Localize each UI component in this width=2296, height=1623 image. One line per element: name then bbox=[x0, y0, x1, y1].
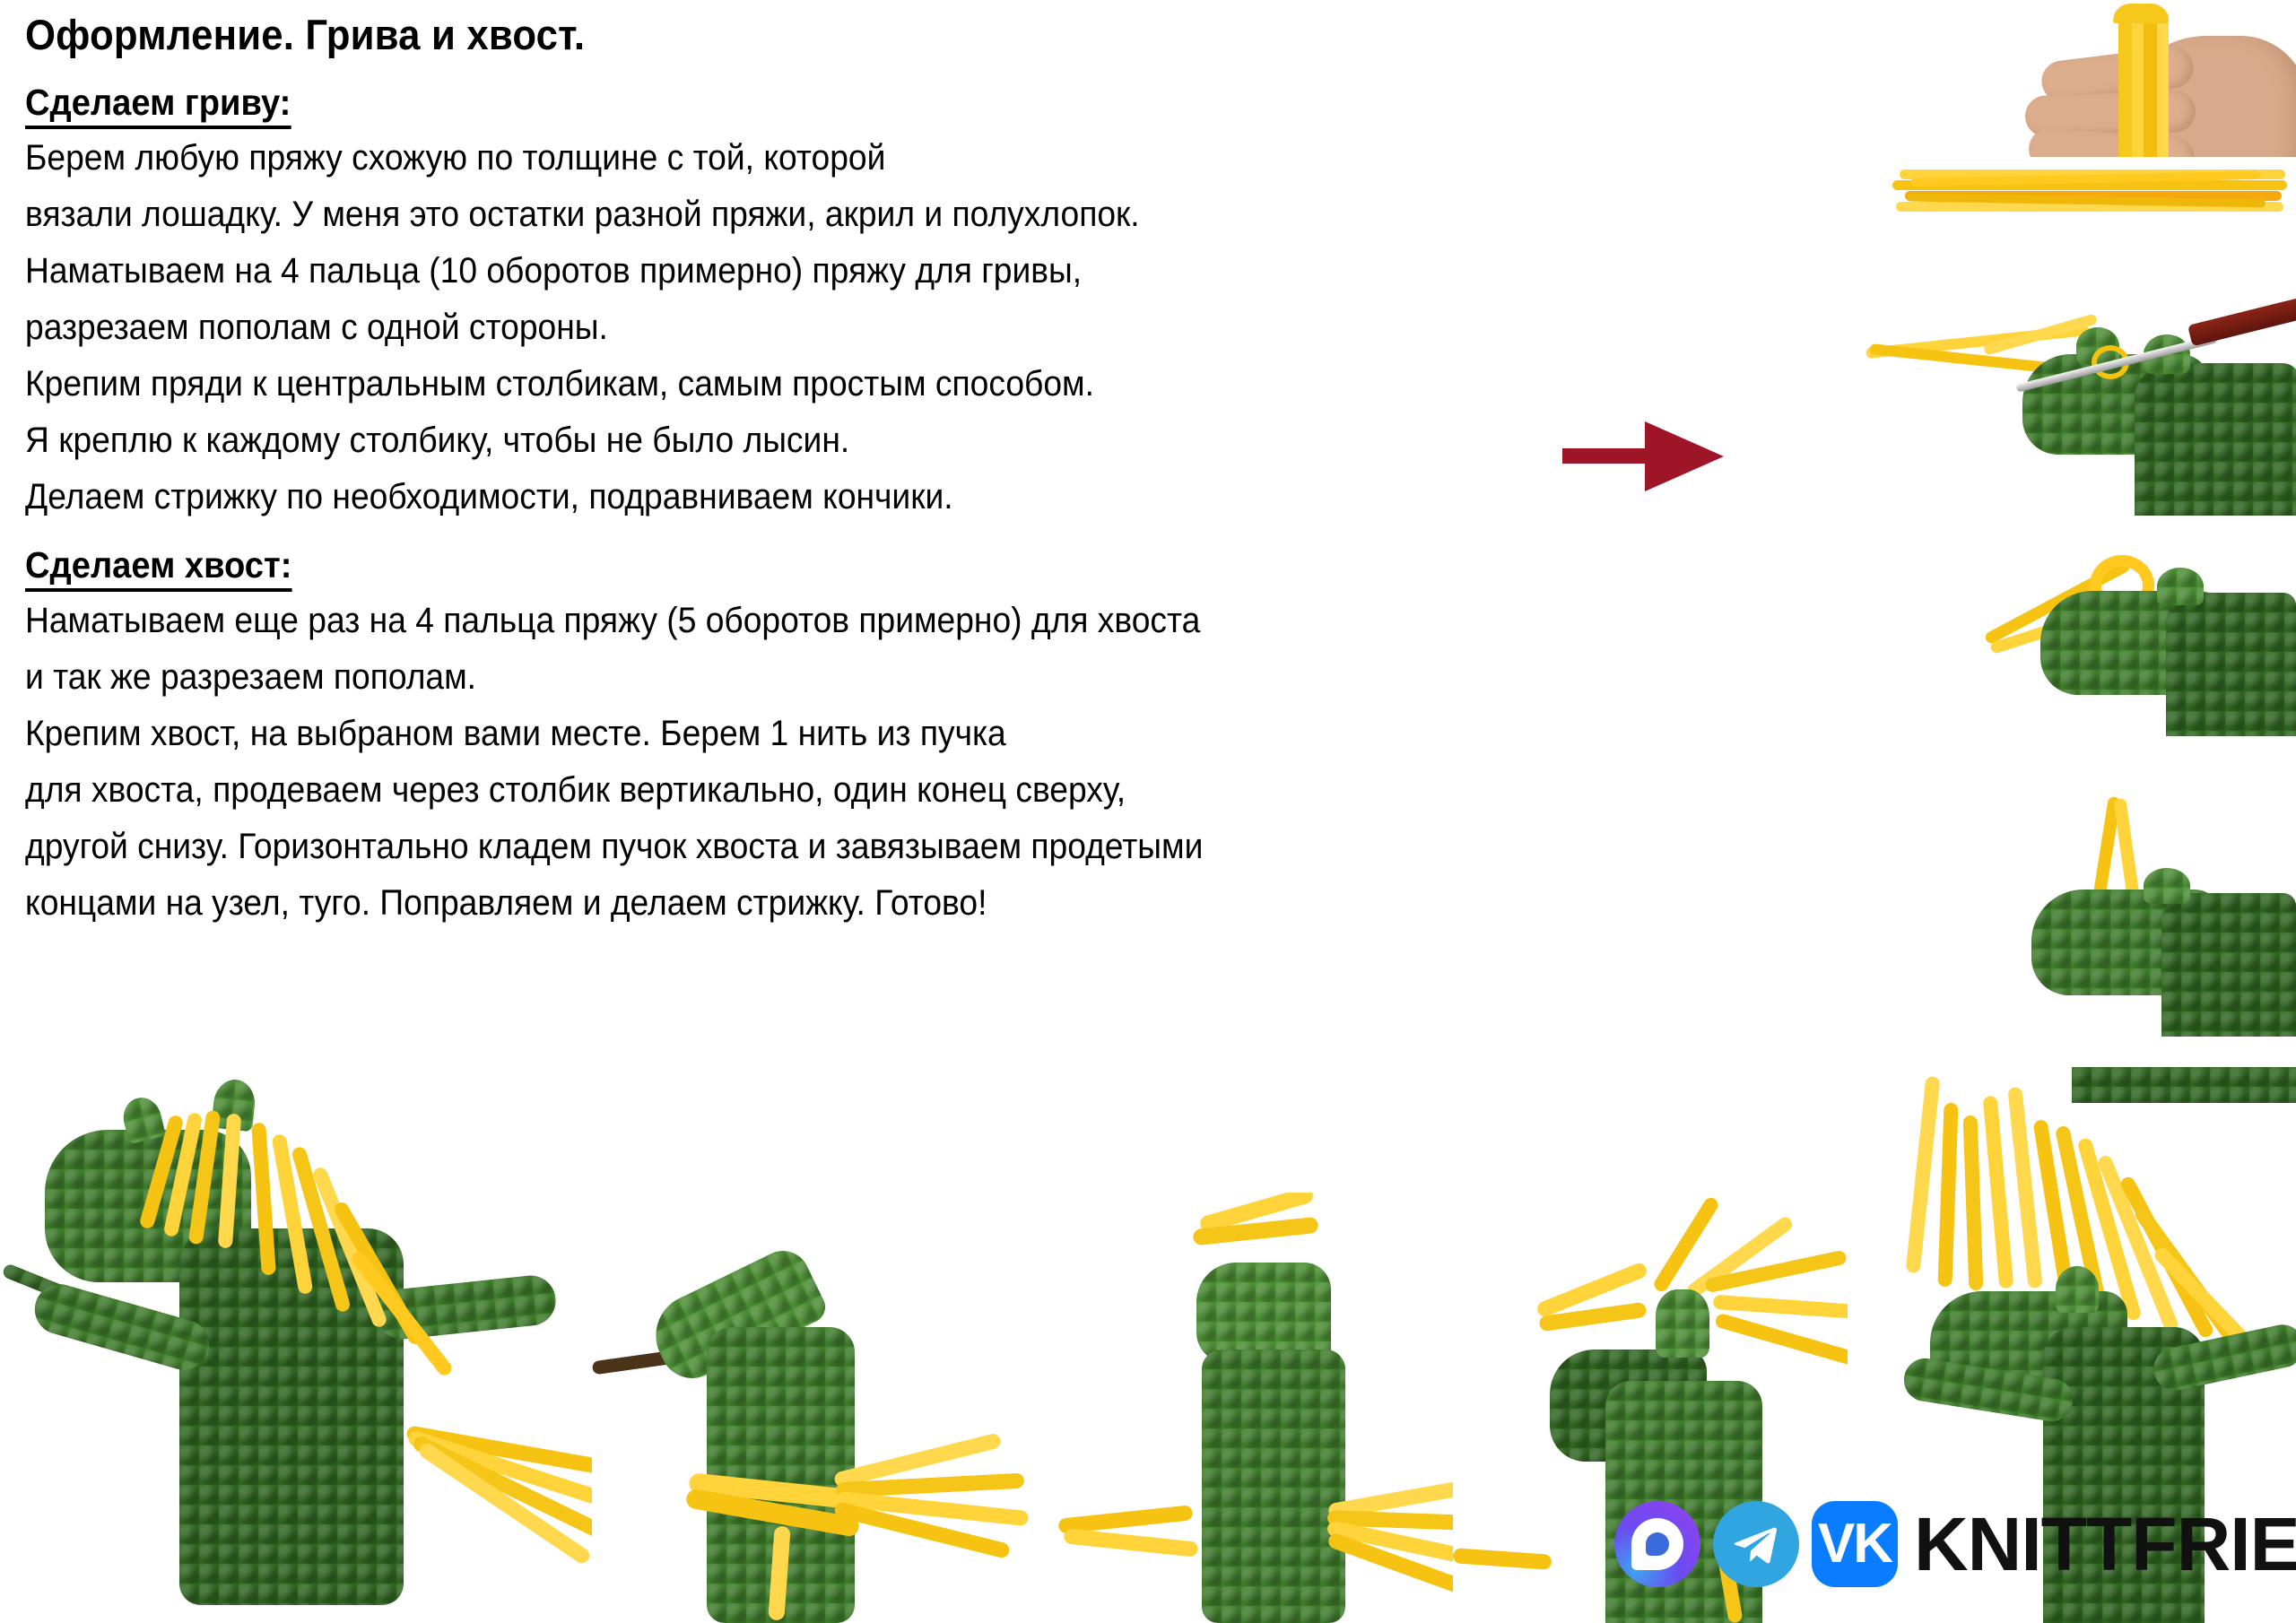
page-title: Оформление. Грива и хвост. bbox=[25, 13, 1610, 58]
vk-icon-glyph: VK bbox=[1818, 1516, 1892, 1572]
photo-hook-attaching-strand bbox=[1848, 229, 2296, 516]
instruction-line: вязали лошадку. У меня это остатки разно… bbox=[25, 196, 1610, 232]
photo-mane-loop-open bbox=[1964, 534, 2296, 794]
dzen-icon-inner bbox=[1631, 1518, 1683, 1570]
instruction-text-column: Оформление. Грива и хвост. Сделаем гриву… bbox=[25, 13, 1729, 942]
dzen-icon[interactable] bbox=[1614, 1501, 1700, 1587]
instruction-line: Крепим пряди к центральным столбикам, са… bbox=[25, 366, 1610, 402]
instruction-line: разрезаем пополам с одной стороны. bbox=[25, 309, 1610, 345]
section-heading-mane: Сделаем гриву: bbox=[25, 82, 291, 129]
dzen-icon-dot bbox=[1646, 1532, 1669, 1556]
section-heading-tail: Сделаем хвост: bbox=[25, 544, 291, 592]
instruction-line: Наматываем еще раз на 4 пальца пряжу (5 … bbox=[25, 603, 1610, 638]
photo-horse-front bbox=[0, 1058, 628, 1623]
instruction-line: концами на узел, туго. Поправляем и дела… bbox=[25, 885, 1610, 921]
vk-icon[interactable]: VK bbox=[1812, 1501, 1898, 1587]
instruction-line: для хвоста, продеваем через столбик верт… bbox=[25, 772, 1610, 808]
instruction-line: Крепим хвост, на выбраном вами месте. Бе… bbox=[25, 716, 1610, 751]
instruction-line: Наматываем на 4 пальца (10 оборотов прим… bbox=[25, 253, 1610, 289]
section-mane: Сделаем гриву: Берем любую пряжу схожую … bbox=[25, 73, 1729, 515]
brand-name: KNITTFRIENDS bbox=[1914, 1501, 2296, 1588]
red-arrow-icon bbox=[1562, 421, 1724, 491]
instruction-line: и так же разрезаем пополам. bbox=[25, 659, 1610, 695]
instruction-line: Берем любую пряжу схожую по толщине с то… bbox=[25, 140, 1610, 176]
brand-watermark: VK KNITTFRIENDS bbox=[1614, 1496, 2296, 1593]
instruction-line: другой снизу. Горизонтально кладем пучок… bbox=[25, 829, 1610, 864]
arrow-head bbox=[1645, 421, 1724, 491]
section-tail: Сделаем хвост: Наматываем еще раз на 4 п… bbox=[25, 535, 1729, 921]
photo-tail-knot bbox=[592, 1193, 1094, 1623]
instruction-line: Делаем стрижку по необходимости, подравн… bbox=[25, 479, 1610, 515]
photo-cut-yarn-bundle bbox=[1883, 157, 2296, 229]
instruction-line: Я креплю к каждому столбику, чтобы не бы… bbox=[25, 422, 1610, 458]
telegram-icon[interactable] bbox=[1713, 1501, 1799, 1587]
photo-mane-loop-tight bbox=[1964, 789, 2296, 1049]
